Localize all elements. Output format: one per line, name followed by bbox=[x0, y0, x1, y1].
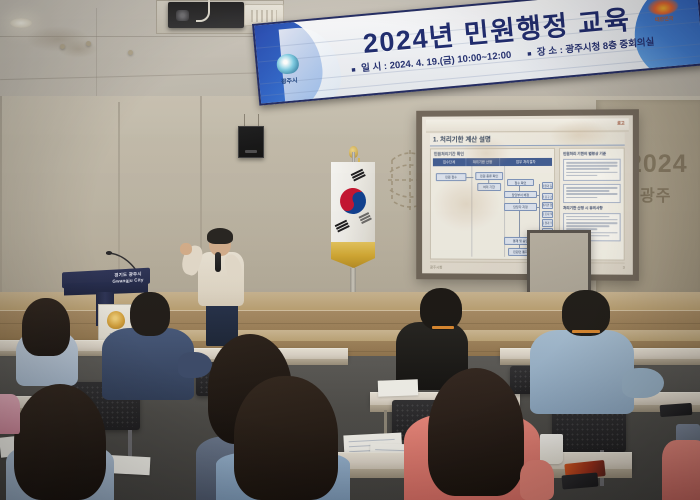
lecture-room-photo: 2024 광주 광주시 2024년 민원행정 교육 bbox=[0, 0, 700, 500]
presenter-hair bbox=[207, 228, 233, 244]
ceiling-light bbox=[10, 18, 32, 28]
flow-node: 처리 결과 작성 bbox=[542, 219, 553, 226]
flow-node: 현지 조사 확인 bbox=[542, 211, 553, 218]
flow-node: 보완 요구 검토 bbox=[542, 193, 553, 200]
attendee-5-hair bbox=[234, 376, 338, 500]
flowchart-subtitle: 민원처리기간 확인 bbox=[434, 151, 464, 157]
flow-node: 처리 기한 bbox=[477, 183, 500, 191]
attendee-2-head bbox=[130, 292, 170, 336]
flow-col-head-1: 처리기한 산정 bbox=[466, 158, 499, 166]
gwangju-city-logo: 광주시 bbox=[264, 45, 312, 93]
sprinkler-icon bbox=[128, 50, 133, 55]
attendee-2-arm bbox=[178, 352, 212, 378]
flow-node: 관계기관 협의 bbox=[542, 202, 553, 209]
side-box-2 bbox=[563, 184, 621, 203]
wall-speaker-icon bbox=[238, 126, 264, 158]
flow-col-head-2: 업무 처리절차 bbox=[500, 158, 552, 166]
flow-node: 담당자 지정 bbox=[504, 203, 536, 211]
side-heading: 민원처리 기한의 법령상 기준 bbox=[563, 152, 621, 157]
national-logo: 대한민국 bbox=[636, 0, 693, 35]
side-box-1 bbox=[563, 159, 621, 181]
banner-place-label: 장 소 : bbox=[537, 45, 564, 58]
presenter-raised-hand bbox=[180, 243, 192, 255]
national-logo-label: 대한민국 bbox=[655, 15, 674, 24]
flowchart-header-row: 접수단계 처리기한 산정 업무 처리절차 bbox=[433, 158, 552, 166]
side-sub-heading: 처리기한 산정 시 유의사항 bbox=[563, 206, 621, 211]
flow-col-head-0: 접수단계 bbox=[433, 158, 466, 166]
slide-footer-left: 광주시청 bbox=[430, 264, 442, 269]
sprinkler-icon bbox=[60, 44, 65, 49]
banner-date-label: 일 시 : bbox=[361, 61, 388, 74]
attendee-right-edge-body bbox=[662, 440, 700, 500]
podium-label: 경기도 광주시 Gwangju City bbox=[108, 271, 148, 284]
flow-node: 접수 확인 bbox=[507, 179, 534, 187]
sprinkler-icon bbox=[86, 41, 91, 46]
attendee-8-hair bbox=[428, 368, 524, 496]
bullet-icon: ■ bbox=[527, 51, 532, 58]
slide-page-number: 3 bbox=[623, 266, 625, 270]
flow-node: 담당부서 배정 bbox=[504, 191, 536, 199]
national-emblem-icon bbox=[647, 0, 678, 16]
attendee-6-head bbox=[420, 288, 462, 330]
wall-city-text: 광주 bbox=[640, 182, 671, 206]
attendee-7-body bbox=[530, 330, 634, 414]
attendee-edge-body bbox=[0, 394, 20, 434]
attendee-1-hair bbox=[22, 298, 70, 356]
city-emblem-icon bbox=[107, 311, 125, 329]
slide-header-logo: 로고 bbox=[617, 120, 624, 126]
handout-paper bbox=[378, 379, 419, 396]
flow-node: 민원 종류 확인 bbox=[475, 172, 503, 180]
attendee-3-hair bbox=[14, 384, 106, 500]
bullet-icon: ■ bbox=[351, 67, 356, 74]
handheld-microphone-icon bbox=[215, 252, 221, 272]
attendee-7-arm bbox=[622, 368, 664, 398]
projector-lens-icon bbox=[176, 10, 189, 21]
attendee-6-lanyard bbox=[432, 326, 454, 329]
flow-node: 처리결과 등록 bbox=[542, 182, 553, 189]
city-logo-label: 광주시 bbox=[281, 75, 298, 85]
attendee-8-arm bbox=[520, 460, 554, 500]
city-emblem-icon bbox=[276, 52, 300, 74]
attendee-7-lanyard bbox=[572, 330, 600, 333]
flow-node: 민원 접수 bbox=[436, 173, 467, 181]
slide-header: 로고 bbox=[426, 118, 629, 132]
smartphone-icon bbox=[660, 403, 693, 417]
slide-title: 1. 처리기한 계산 설명 bbox=[430, 132, 625, 146]
